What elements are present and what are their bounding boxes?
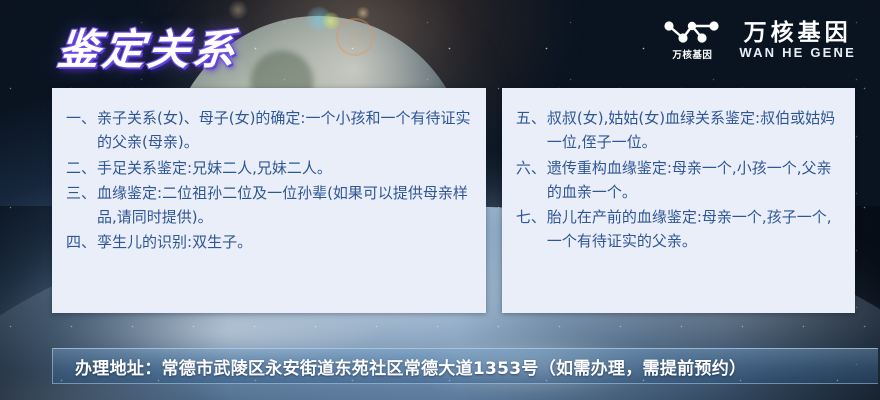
list-item: 二、 手足关系鉴定:兄妹二人,兄妹二人。 <box>66 156 474 180</box>
list-item-number: 六、 <box>516 156 547 180</box>
brand-name-cn: 万核基因 <box>744 20 852 44</box>
list-item-text: 遗传重构血缘鉴定:母亲一个,小孩一个,父亲的血亲一个。 <box>547 156 841 205</box>
list-item-text: 孪生儿的识别:双生子。 <box>97 230 474 254</box>
list-item: 六、 遗传重构血缘鉴定:母亲一个,小孩一个,父亲的血亲一个。 <box>516 156 841 205</box>
header: 鉴定关系 <box>0 0 880 88</box>
list-item-text: 血缘鉴定:二位祖孙二位及一位孙辈(如果可以提供母亲样品,请同时提供)。 <box>97 181 474 230</box>
promo-banner: 鉴定关系 <box>0 0 880 400</box>
list-item-text: 手足关系鉴定:兄妹二人,兄妹二人。 <box>97 156 474 180</box>
list-item-number: 三、 <box>66 181 97 205</box>
brand-mark: 万核基因 <box>661 18 723 61</box>
list-item-number: 四、 <box>66 230 97 254</box>
list-item: 七、 胎儿在产前的血缘鉴定:母亲一个,孩子一个,一个有待证实的父亲。 <box>516 205 841 254</box>
address-text: 办理地址：常德市武陵区永安街道东苑社区常德大道1353号（如需办理，需提前预约） <box>75 354 746 379</box>
brand-logo: 万核基因 万核基因 WAN HE GENE <box>661 18 856 61</box>
list-item-number: 七、 <box>516 205 547 229</box>
brand-wordmark: 万核基因 WAN HE GENE <box>739 20 856 59</box>
list-item-text: 胎儿在产前的血缘鉴定:母亲一个,孩子一个,一个有待证实的父亲。 <box>547 205 841 254</box>
list-item-text: 叔叔(女),姑姑(女)血绿关系鉴定:叔伯或姑妈一位,侄子一位。 <box>547 106 841 155</box>
list-item-text: 亲子关系(女)、母子(女)的确定:一个小孩和一个有待证实的父亲(母亲)。 <box>97 106 474 155</box>
page-title: 鉴定关系 <box>55 16 241 77</box>
list-item: 一、 亲子关系(女)、母子(女)的确定:一个小孩和一个有待证实的父亲(母亲)。 <box>66 106 474 155</box>
brand-mark-label: 万核基因 <box>672 51 712 61</box>
brand-name-en: WAN HE GENE <box>739 46 856 59</box>
list-item: 五、 叔叔(女),姑姑(女)血绿关系鉴定:叔伯或姑妈一位,侄子一位。 <box>516 106 841 155</box>
list-item-number: 五、 <box>516 106 547 130</box>
list-item: 三、 血缘鉴定:二位祖孙二位及一位孙辈(如果可以提供母亲样品,请同时提供)。 <box>66 181 474 230</box>
molecule-nodes-icon <box>661 18 723 48</box>
address-bar: 办理地址：常德市武陵区永安街道东苑社区常德大道1353号（如需办理，需提前预约） <box>52 348 878 384</box>
list-item-number: 二、 <box>66 156 97 180</box>
list-item: 四、 孪生儿的识别:双生子。 <box>66 230 474 254</box>
right-panel: 五、 叔叔(女),姑姑(女)血绿关系鉴定:叔伯或姑妈一位,侄子一位。 六、 遗传… <box>502 88 855 313</box>
content-panels: 一、 亲子关系(女)、母子(女)的确定:一个小孩和一个有待证实的父亲(母亲)。 … <box>52 88 855 313</box>
list-item-number: 一、 <box>66 106 97 130</box>
left-panel: 一、 亲子关系(女)、母子(女)的确定:一个小孩和一个有待证实的父亲(母亲)。 … <box>52 88 486 313</box>
